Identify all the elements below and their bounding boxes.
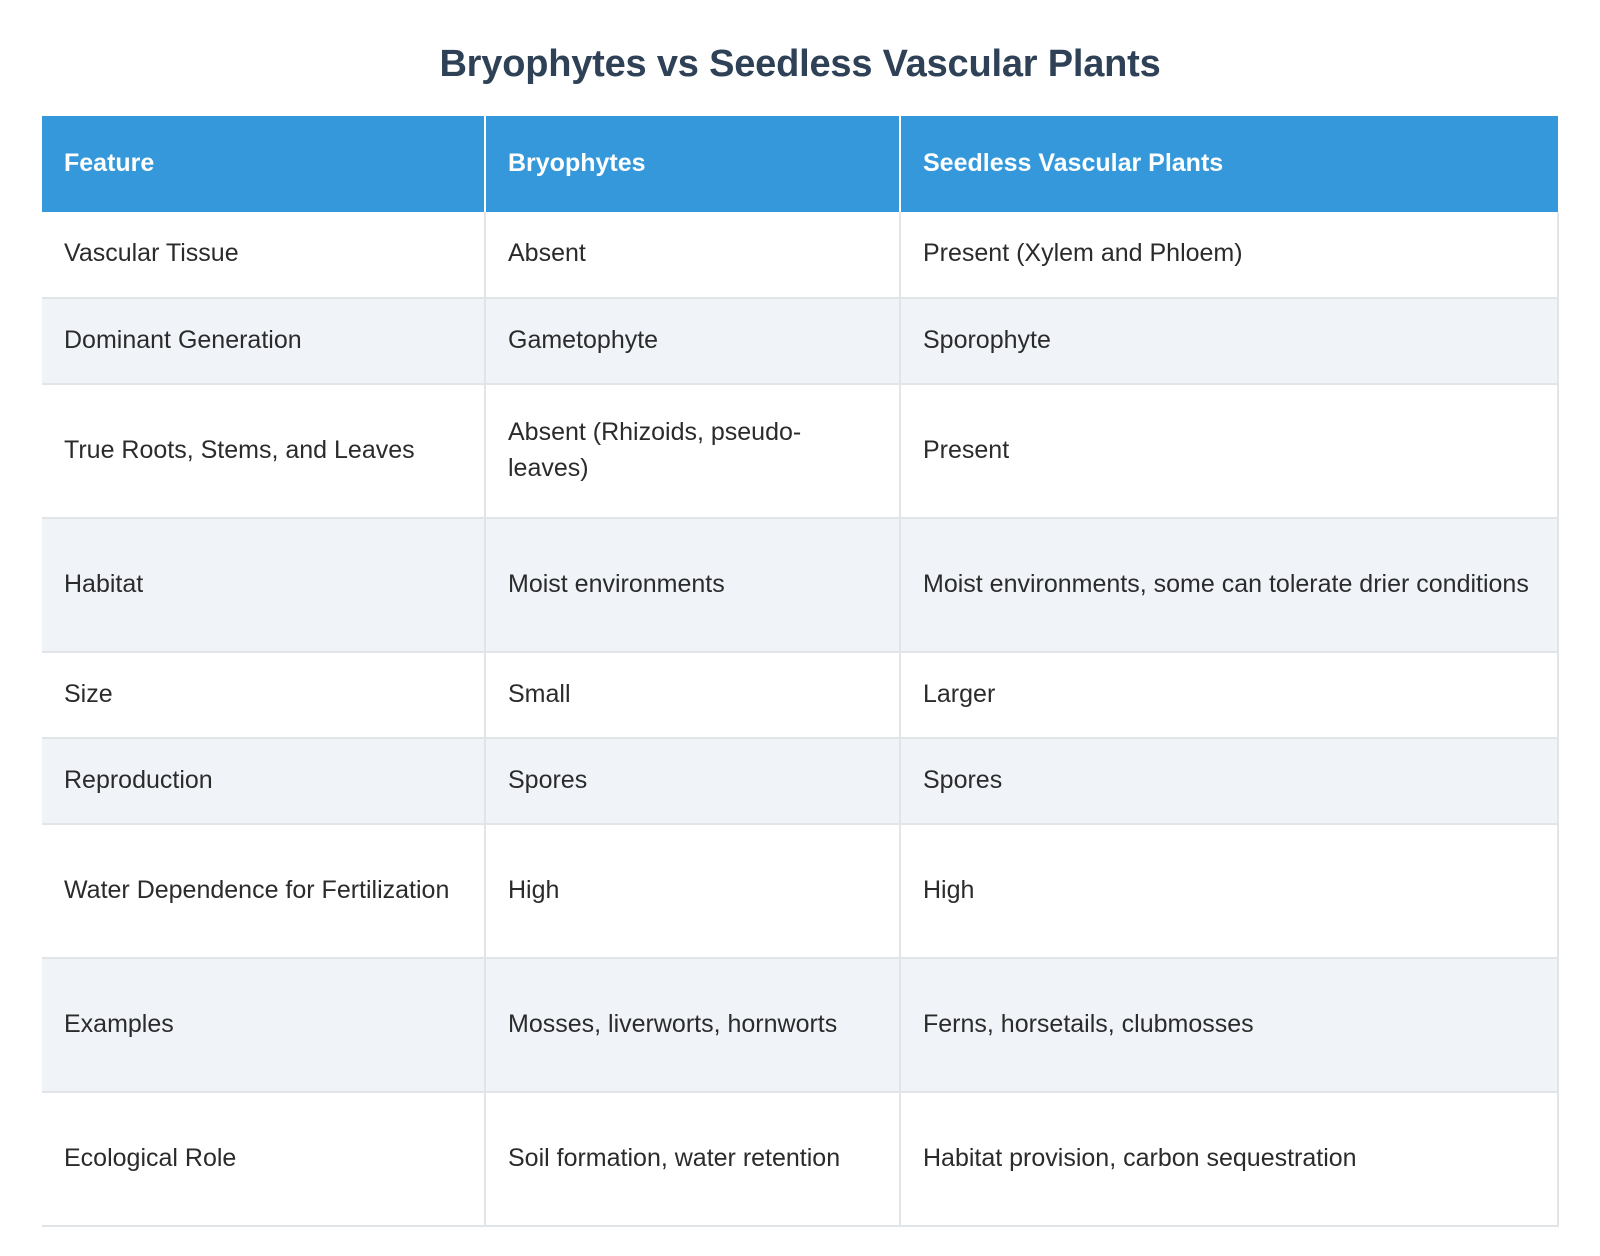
column-header-feature[interactable]: Feature	[42, 116, 485, 212]
table-row: HabitatMoist environmentsMoist environme…	[42, 518, 1558, 652]
column-header-bryophytes[interactable]: Bryophytes	[485, 116, 900, 212]
table-row: ReproductionSporesSpores	[42, 738, 1558, 824]
comparison-table: Feature Bryophytes Seedless Vascular Pla…	[42, 116, 1559, 1227]
cell-bryophytes: Small	[485, 652, 900, 738]
cell-seedless-vascular-plants: Sporophyte	[900, 298, 1558, 384]
page-root: Bryophytes vs Seedless Vascular Plants F…	[0, 0, 1600, 1256]
cell-feature: Examples	[42, 958, 485, 1092]
cell-seedless-vascular-plants: High	[900, 824, 1558, 958]
table-header-row: Feature Bryophytes Seedless Vascular Pla…	[42, 116, 1558, 212]
cell-seedless-vascular-plants: Present (Xylem and Phloem)	[900, 212, 1558, 298]
cell-bryophytes: Mosses, liverworts, hornworts	[485, 958, 900, 1092]
table-row: ExamplesMosses, liverworts, hornwortsFer…	[42, 958, 1558, 1092]
cell-feature: Size	[42, 652, 485, 738]
cell-seedless-vascular-plants: Moist environments, some can tolerate dr…	[900, 518, 1558, 652]
table-row: Vascular TissueAbsentPresent (Xylem and …	[42, 212, 1558, 298]
table-header: Feature Bryophytes Seedless Vascular Pla…	[42, 116, 1558, 212]
cell-bryophytes: Moist environments	[485, 518, 900, 652]
cell-feature: Water Dependence for Fertilization	[42, 824, 485, 958]
cell-seedless-vascular-plants: Present	[900, 384, 1558, 518]
table-body: Vascular TissueAbsentPresent (Xylem and …	[42, 212, 1558, 1226]
cell-feature: Habitat	[42, 518, 485, 652]
table-row: Water Dependence for FertilizationHighHi…	[42, 824, 1558, 958]
cell-seedless-vascular-plants: Spores	[900, 738, 1558, 824]
cell-bryophytes: Spores	[485, 738, 900, 824]
table-row: True Roots, Stems, and LeavesAbsent (Rhi…	[42, 384, 1558, 518]
cell-seedless-vascular-plants: Habitat provision, carbon sequestration	[900, 1092, 1558, 1226]
column-header-seedless-vascular-plants[interactable]: Seedless Vascular Plants	[900, 116, 1558, 212]
cell-bryophytes: High	[485, 824, 900, 958]
table-row: Ecological RoleSoil formation, water ret…	[42, 1092, 1558, 1226]
cell-feature: True Roots, Stems, and Leaves	[42, 384, 485, 518]
table-row: SizeSmallLarger	[42, 652, 1558, 738]
comparison-table-container: Feature Bryophytes Seedless Vascular Pla…	[42, 116, 1558, 1227]
cell-feature: Vascular Tissue	[42, 212, 485, 298]
cell-seedless-vascular-plants: Ferns, horsetails, clubmosses	[900, 958, 1558, 1092]
page-title: Bryophytes vs Seedless Vascular Plants	[0, 0, 1600, 88]
cell-bryophytes: Gametophyte	[485, 298, 900, 384]
cell-seedless-vascular-plants: Larger	[900, 652, 1558, 738]
cell-bryophytes: Absent (Rhizoids, pseudo-leaves)	[485, 384, 900, 518]
cell-bryophytes: Absent	[485, 212, 900, 298]
cell-feature: Ecological Role	[42, 1092, 485, 1226]
cell-bryophytes: Soil formation, water retention	[485, 1092, 900, 1226]
cell-feature: Dominant Generation	[42, 298, 485, 384]
cell-feature: Reproduction	[42, 738, 485, 824]
table-row: Dominant GenerationGametophyteSporophyte	[42, 298, 1558, 384]
